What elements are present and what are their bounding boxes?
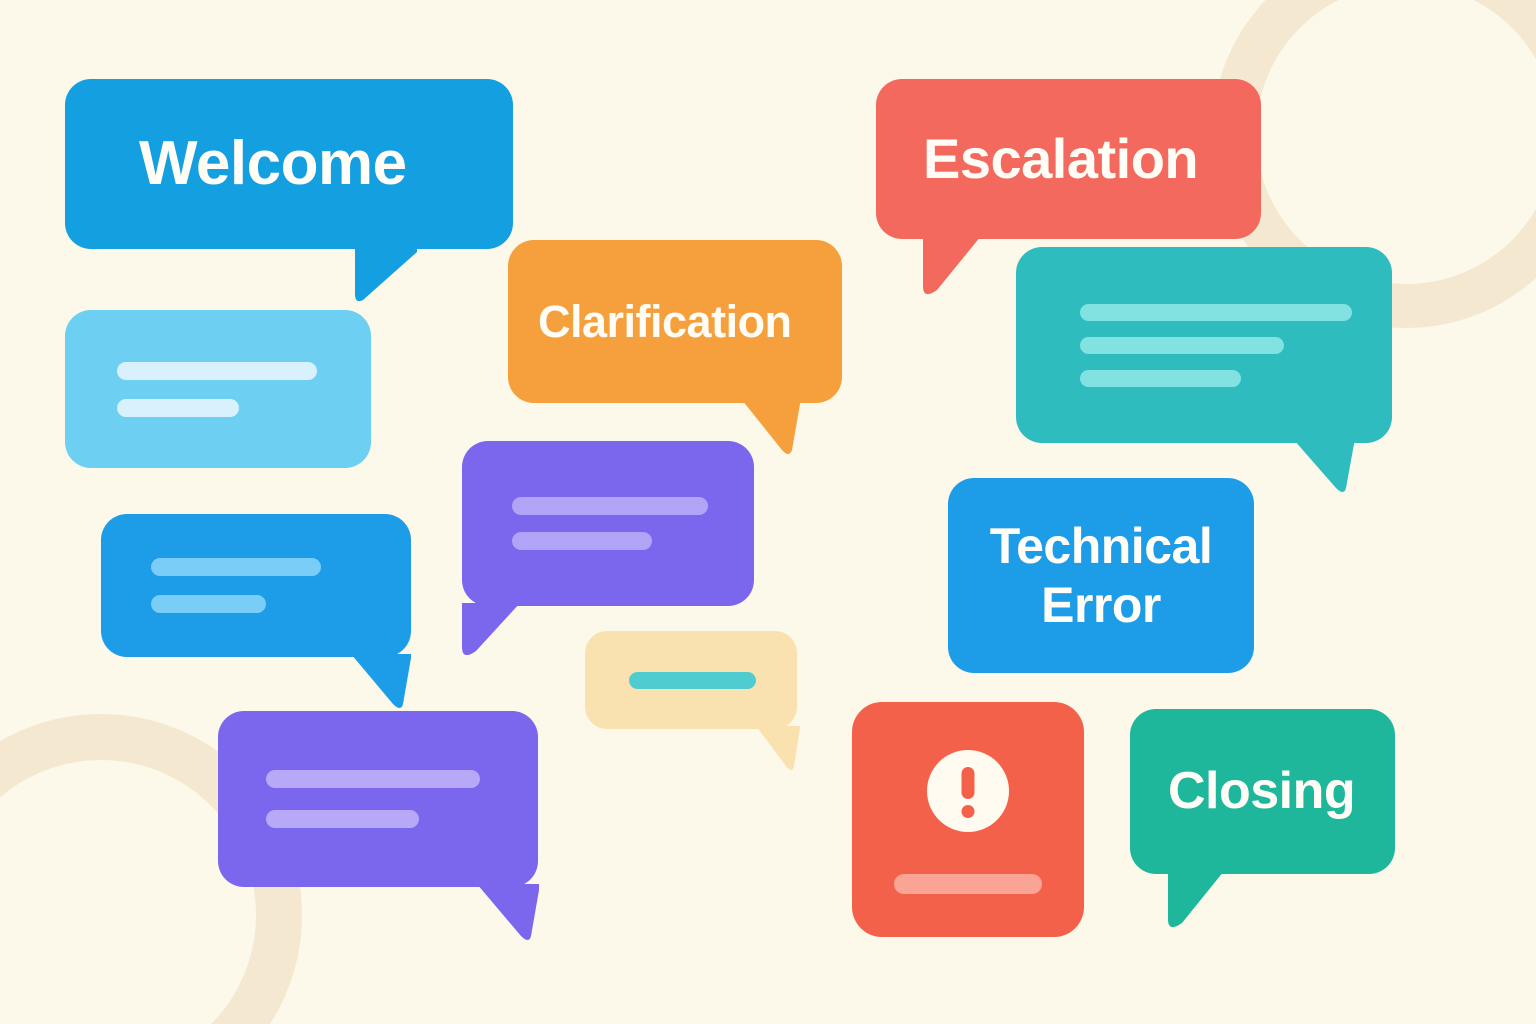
placeholder-line <box>151 595 266 613</box>
placeholder-line <box>1080 304 1352 321</box>
exclamation-stem <box>962 767 975 799</box>
exclamation-dot <box>962 805 975 818</box>
exclamation-circle-icon <box>927 750 1009 832</box>
alert-card[interactable] <box>852 702 1084 937</box>
bubble-clarification[interactable]: Clarification <box>508 240 842 403</box>
bubble-placeholder-teal[interactable] <box>1016 247 1392 443</box>
placeholder-line <box>1080 337 1284 354</box>
placeholder-line <box>266 810 419 828</box>
bubble-tail-placeholder-purple-upper <box>462 603 520 655</box>
bubble-tail-clarification <box>742 400 800 454</box>
bubble-technical-error-label: Technical Error <box>990 517 1212 634</box>
bubble-placeholder-blue[interactable] <box>101 514 411 657</box>
bubble-welcome[interactable]: Welcome <box>65 79 513 249</box>
placeholder-line <box>266 770 480 788</box>
bubble-placeholder-purple-lower[interactable] <box>218 711 538 887</box>
placeholder-line <box>894 874 1042 894</box>
bubble-closing[interactable]: Closing <box>1130 709 1395 874</box>
illustration-canvas: Welcome Clarification <box>0 0 1536 1024</box>
bubble-clarification-label: Clarification <box>538 298 842 345</box>
placeholder-line <box>629 672 756 689</box>
placeholder-line <box>151 558 321 576</box>
placeholder-line <box>512 497 708 515</box>
bubble-welcome-label: Welcome <box>139 131 513 196</box>
placeholder-line <box>117 399 239 417</box>
bubble-tail-welcome <box>355 246 417 302</box>
bubble-tail-placeholder-blue <box>351 654 411 708</box>
bubble-escalation-label: Escalation <box>923 130 1261 189</box>
bubble-placeholder-cream[interactable] <box>585 631 797 729</box>
bubble-tail-placeholder-cream <box>756 726 800 770</box>
bubble-placeholder-purple-upper[interactable] <box>462 441 754 606</box>
bubble-tail-closing <box>1168 871 1224 929</box>
placeholder-line <box>117 362 317 380</box>
bubble-placeholder-light-blue[interactable] <box>65 310 371 468</box>
bubble-tail-placeholder-purple-lower <box>477 884 539 942</box>
bubble-tail-escalation <box>923 236 981 296</box>
bubble-closing-label: Closing <box>1168 764 1395 819</box>
bubble-technical-error[interactable]: Technical Error <box>948 478 1254 673</box>
bubble-escalation[interactable]: Escalation <box>876 79 1261 239</box>
bubble-tail-placeholder-teal <box>1294 440 1354 492</box>
placeholder-line <box>512 532 652 550</box>
placeholder-line <box>1080 370 1241 387</box>
